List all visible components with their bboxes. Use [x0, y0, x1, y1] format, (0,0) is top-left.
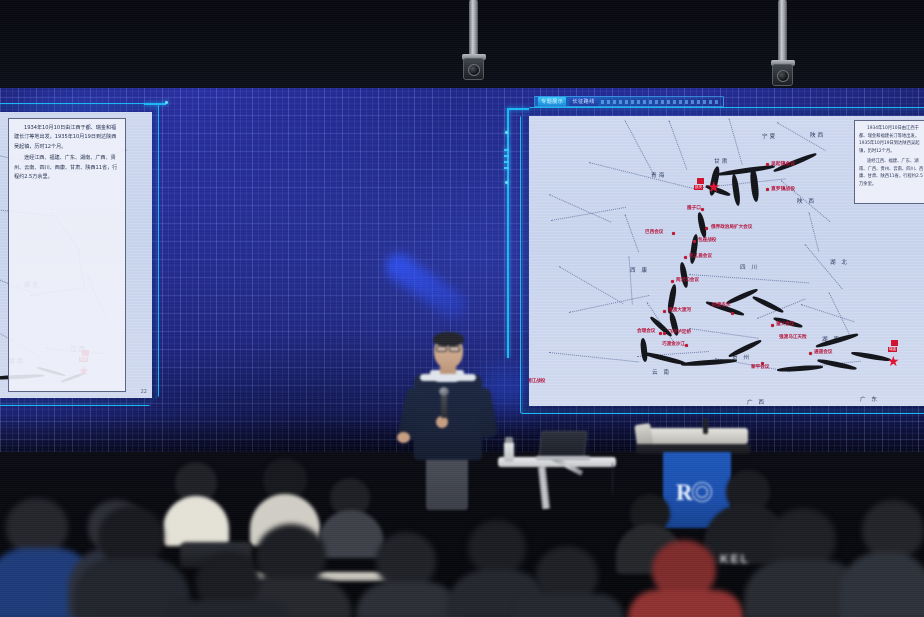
- speaker-glasses: [436, 346, 447, 352]
- speaker-glasses: [449, 346, 460, 352]
- province-label: 陕 西: [797, 197, 816, 205]
- frame-lead-line: [507, 108, 529, 110]
- textbox-paragraph-1: 1934年10月10日由江西于都、瑞金和福建长汀等地出发，1935年10月19日…: [9, 119, 125, 152]
- battle-label: 湘江战役: [529, 378, 545, 384]
- speaker-legs: [426, 452, 468, 510]
- header-tab-primary[interactable]: 专题展示: [538, 97, 566, 106]
- left-slide-page-number: 22: [141, 389, 147, 395]
- right-slide-content: 宁夏 陕西 甘肃 青海 陕 西 西 康 四 川 湖 北 云 南 贵 州 湖 南 …: [529, 116, 924, 406]
- speaker-shirt-collar: [420, 374, 476, 381]
- battle-marker-dot: [809, 352, 812, 355]
- header-tab-secondary[interactable]: 长征路线: [569, 97, 597, 106]
- laptop-screen[interactable]: [539, 431, 588, 457]
- battle-marker-dot: [705, 227, 708, 230]
- battle-label: 包座战役: [698, 237, 716, 243]
- yanan-star-icon: ★: [707, 180, 720, 195]
- left-slide-content: 湖北 江西 湖南 瑞金 ★ 1934年10月10日由江西于都、瑞金和福建长汀等地…: [0, 112, 152, 398]
- textbox-paragraph-2: 途经江西、福建、广东、湖南、广西、贵州、云南、四川、西康、甘肃、陕西11省，行程…: [855, 156, 924, 189]
- speaker: [396, 330, 506, 510]
- battle-label: 黎平会议: [751, 364, 769, 370]
- battle-marker-dot: [685, 344, 688, 347]
- province-label: 四 川: [740, 263, 759, 271]
- province-label: 宁夏: [762, 132, 777, 140]
- battle-label: 俄界政治局扩大会议: [711, 224, 752, 230]
- battle-label: 飞夺泸定桥: [668, 329, 691, 335]
- province-label: 甘肃: [714, 157, 729, 165]
- province-label: 广 东: [860, 395, 879, 403]
- battle-marker-dot: [659, 332, 662, 335]
- battle-marker-dot: [684, 256, 687, 259]
- textbox-paragraph-1: 1934年10月10日由江西于都、瑞金和福建长汀等地出发，1935年10月19日…: [855, 121, 924, 156]
- frame-lead-line: [144, 103, 166, 105]
- ruijin-flag-icon: [891, 340, 898, 346]
- battle-label: 巧渡金沙江: [662, 341, 685, 347]
- battle-marker-dot: [771, 324, 774, 327]
- header-ticker: [601, 100, 720, 104]
- lectern-mic-stem: [703, 418, 708, 434]
- province-label: 湖 北: [830, 258, 849, 266]
- province-label: 西 康: [630, 266, 649, 274]
- frame-dot: [505, 131, 508, 134]
- province-label: 云 南: [652, 368, 671, 376]
- battle-label: 巴西会议: [645, 229, 663, 235]
- water-bottle: [504, 442, 514, 462]
- bottle-cap: [505, 437, 513, 443]
- battle-marker-dot: [766, 163, 769, 166]
- battle-label: 会理会议: [637, 328, 655, 334]
- right-slide-textbox: 1934年10月10日由江西于都、瑞金和福建长汀等地出发，1935年10月19日…: [854, 120, 924, 204]
- frame-lead-line: [507, 108, 509, 358]
- battle-marker-dot: [663, 332, 666, 335]
- left-slide-panel[interactable]: 湖北 江西 湖南 瑞金 ★ 1934年10月10日由江西于都、瑞金和福建长汀等地…: [0, 112, 152, 398]
- frame-tick: [504, 167, 509, 169]
- battle-marker-dot: [701, 208, 704, 211]
- battle-label: 吴起镇会议: [771, 160, 795, 167]
- battle-marker-dot: [663, 310, 666, 313]
- battle-label: 强渡大渡河: [668, 307, 691, 313]
- battle-label: 腊子口: [687, 205, 701, 211]
- battle-label: 遵义会议: [776, 321, 794, 327]
- ruijin-star-icon: ★: [887, 354, 900, 368]
- speaker-torso: [414, 374, 482, 460]
- province-label: 陕西: [810, 131, 825, 139]
- battle-marker-dot: [693, 240, 696, 243]
- jacket-logo-text: KEL: [720, 552, 750, 566]
- ruijin-label: 瑞金: [888, 347, 897, 352]
- battle-label: 毛儿盖会议: [689, 253, 712, 259]
- lectern-seal-inner-icon: [696, 486, 708, 498]
- battle-marker-dot: [671, 280, 674, 283]
- laptop-keyboard[interactable]: [536, 456, 590, 460]
- frame-tick: [504, 149, 509, 151]
- frame-dot: [165, 101, 168, 104]
- battle-marker-dot: [766, 188, 769, 191]
- lecture-hall-photo: 湖北 江西 湖南 瑞金 ★ 1934年10月10日由江西于都、瑞金和福建长汀等地…: [0, 0, 924, 617]
- battle-label: 两河口会议: [676, 277, 699, 283]
- battle-label: 直罗镇战役: [771, 185, 795, 192]
- province-label: 广 西: [747, 398, 766, 406]
- yanan-label: 延安: [694, 185, 703, 190]
- right-slide-panel[interactable]: 专题展示 长征路线: [529, 116, 924, 406]
- battle-marker-dot: [731, 312, 734, 315]
- left-map: 湖北 江西 湖南 瑞金 ★ 1934年10月10日由江西于都、瑞金和福建长汀等地…: [0, 112, 152, 398]
- textbox-paragraph-2: 途经江西、福建、广东、湖南、广西、贵州、云南、四川、西康、甘肃、陕西11省，行程…: [9, 152, 125, 182]
- lectern-surface: [640, 428, 748, 444]
- speaker-hand-left: [397, 432, 410, 443]
- frame-tick: [504, 155, 509, 157]
- frame-tick: [504, 161, 509, 163]
- battle-label: 强渡乌江天险: [779, 334, 807, 340]
- right-panel-header[interactable]: 专题展示 长征路线: [534, 96, 724, 107]
- battle-label: 四渡赤水: [712, 302, 730, 308]
- frame-dot: [505, 181, 508, 184]
- province-label: 青海: [651, 171, 666, 179]
- yanan-flag-icon: [697, 178, 704, 184]
- battle-marker-dot: [672, 232, 675, 235]
- right-map: 宁夏 陕西 甘肃 青海 陕 西 西 康 四 川 湖 北 云 南 贵 州 湖 南 …: [529, 116, 924, 406]
- microphone-head: [439, 387, 449, 396]
- speaker-hair: [433, 332, 464, 346]
- lectern-logo-text: R: [676, 481, 693, 504]
- left-slide-textbox: 1934年10月10日由江西于都、瑞金和福建长汀等地出发，1935年10月19日…: [8, 118, 126, 392]
- battle-label: 通道会议: [814, 349, 832, 355]
